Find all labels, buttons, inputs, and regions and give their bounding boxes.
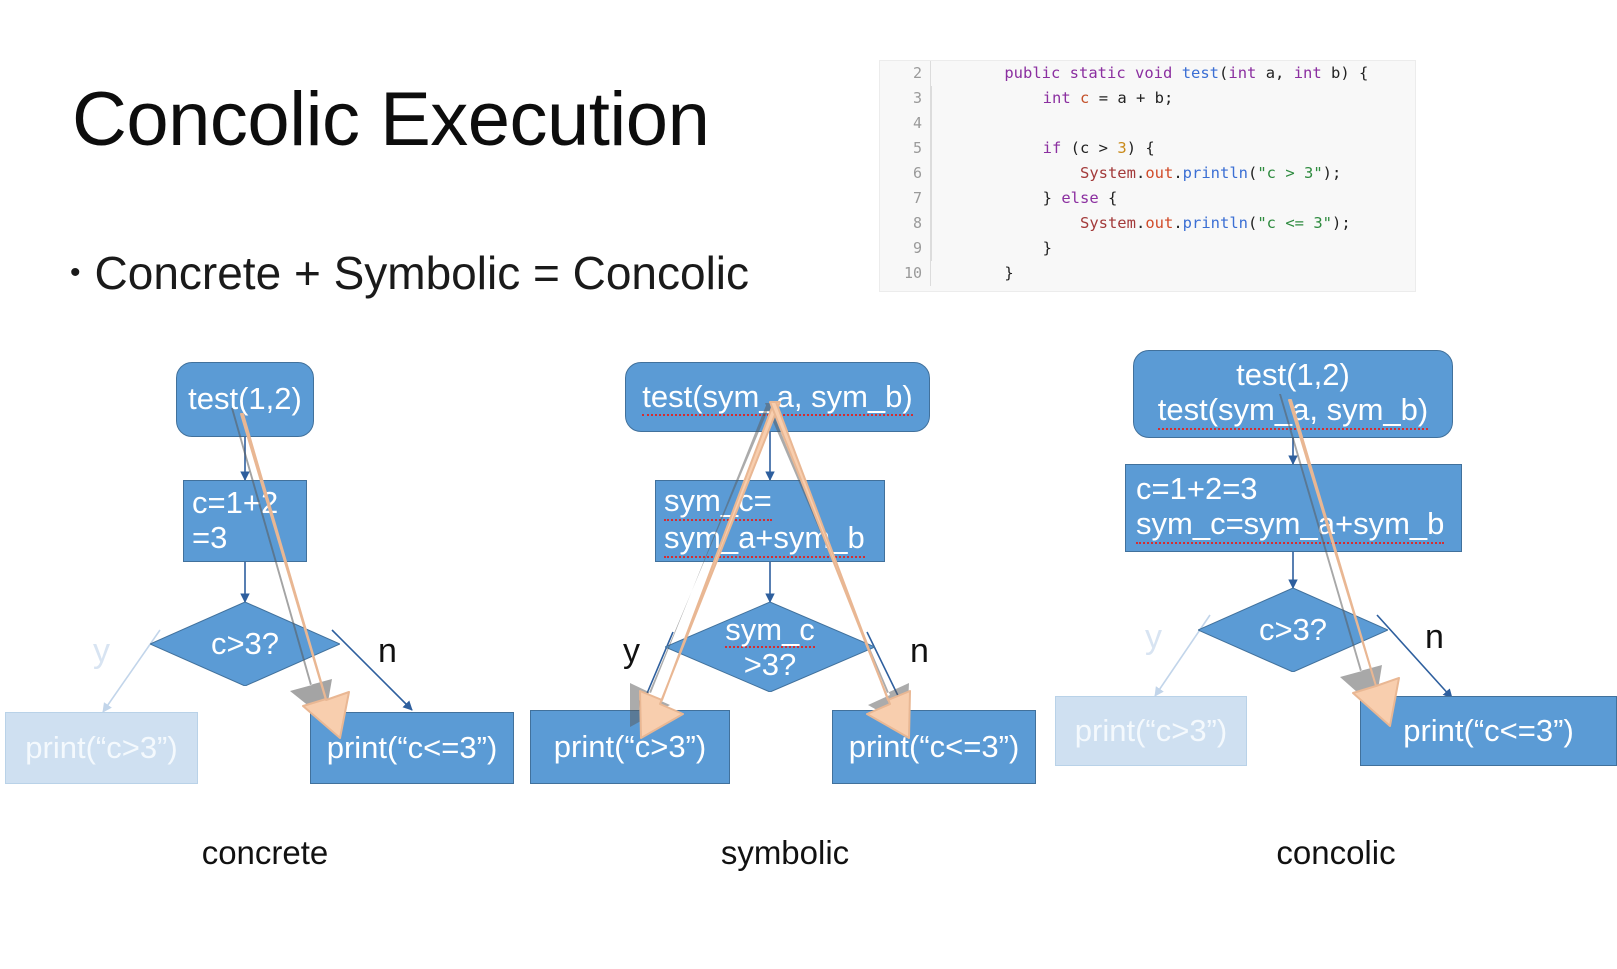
code-line: 8 System.out.println("c <= 3");: [880, 211, 1415, 236]
code-text: System.out.println("c <= 3");: [950, 211, 1415, 236]
execution-path-overlay-symbolic: [520, 340, 1050, 900]
line-number: 6: [880, 161, 930, 186]
bullet-item: • Concrete + Symbolic = Concolic: [70, 244, 749, 302]
fold-gutter: [930, 161, 950, 186]
line-number: 10: [880, 261, 930, 286]
highlight-arrow-no-path: [241, 414, 349, 738]
fold-gutter: [930, 261, 949, 286]
code-line: 2 public static void test(int a, int b) …: [880, 61, 1415, 86]
fold-gutter: [930, 86, 950, 111]
fold-gutter: [930, 236, 950, 261]
bullet-text: Concrete + Symbolic = Concolic: [95, 244, 750, 302]
code-text: int c = a + b;: [950, 86, 1415, 111]
fold-gutter: [930, 61, 949, 86]
code-line: 6 System.out.println("c > 3");: [880, 161, 1415, 186]
diagram-symbolic: test(sym_a, sym_b) sym_c= sym_a+sym_b sy…: [520, 340, 1050, 900]
code-text: }: [949, 261, 1415, 286]
path-shadow: [1279, 394, 1382, 708]
code-line: 10 }: [880, 261, 1415, 286]
diagram-concolic: test(1,2) test(sym_a, sym_b) c=1+2=3 sym…: [1055, 340, 1617, 900]
line-number: 2: [880, 61, 930, 86]
fold-gutter: [930, 111, 950, 136]
path-shadow: [630, 403, 909, 727]
code-snippet-panel: 2 public static void test(int a, int b) …: [879, 60, 1416, 292]
code-line: 3 int c = a + b;: [880, 86, 1415, 111]
code-line: 5 if (c > 3) {: [880, 136, 1415, 161]
code-text: System.out.println("c > 3");: [950, 161, 1415, 186]
code-text: } else {: [950, 186, 1415, 211]
fold-gutter: [930, 211, 950, 236]
bullet-marker: •: [70, 244, 81, 302]
page-title: Concolic Execution: [72, 78, 709, 162]
execution-path-overlay-concrete: [0, 340, 530, 900]
code-line: 4: [880, 111, 1415, 136]
line-number: 9: [880, 236, 930, 261]
line-number: 3: [880, 86, 930, 111]
code-line: 9 }: [880, 236, 1415, 261]
code-text: if (c > 3) {: [950, 136, 1415, 161]
highlight-arrow-yes-path: [640, 402, 780, 738]
highlight-arrow-no-path: [770, 402, 910, 738]
execution-path-overlay-concolic: [1055, 340, 1617, 900]
diagram-concrete: test(1,2) c=1+2 =3 c>3? y n print(“c>3”)…: [0, 340, 530, 900]
code-line: 7 } else {: [880, 186, 1415, 211]
line-number: 8: [880, 211, 930, 236]
line-number: 5: [880, 136, 930, 161]
fold-gutter: [930, 136, 950, 161]
code-text: }: [950, 236, 1415, 261]
fold-gutter: [930, 186, 950, 211]
line-number: 7: [880, 186, 930, 211]
code-text: public static void test(int a, int b) {: [949, 61, 1415, 86]
line-number: 4: [880, 111, 930, 136]
